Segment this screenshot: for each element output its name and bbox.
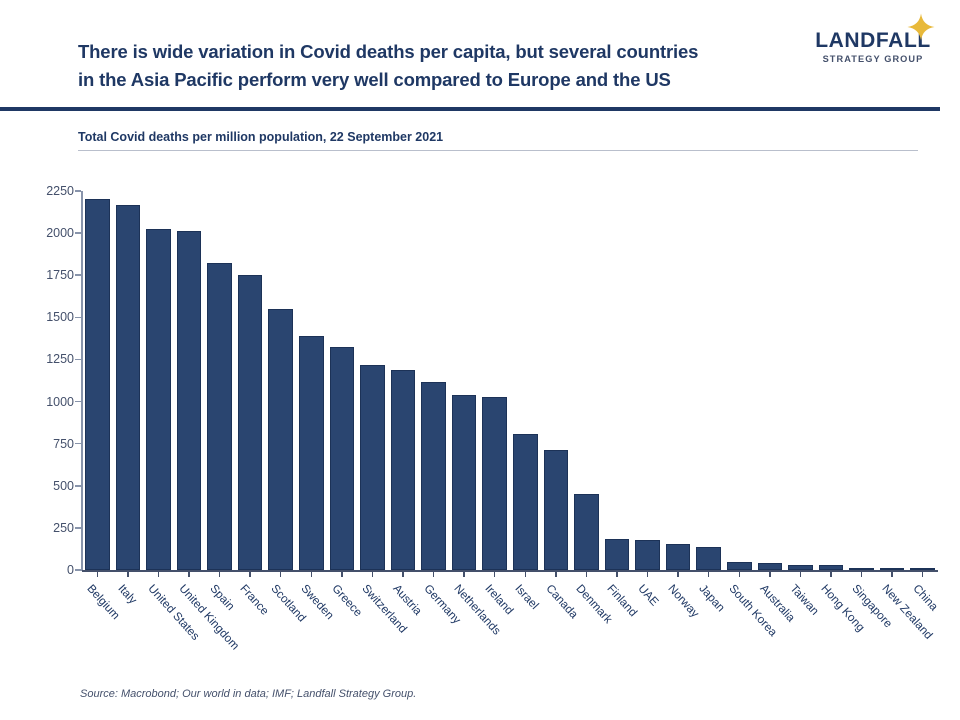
x-axis-tick-mark xyxy=(555,570,557,577)
y-axis-tick-label: 2250 xyxy=(22,184,74,198)
bar[interactable] xyxy=(544,450,568,570)
bar[interactable] xyxy=(146,229,170,570)
x-axis-tick-mark xyxy=(525,570,527,577)
x-axis-tick-mark xyxy=(158,570,160,577)
x-axis-tick-mark xyxy=(494,570,496,577)
plot-area xyxy=(82,191,938,570)
y-axis-tick-label: 0 xyxy=(22,563,74,577)
x-axis-tick-mark xyxy=(861,570,863,577)
x-axis-tick-mark xyxy=(800,570,802,577)
bar[interactable] xyxy=(177,231,201,570)
x-axis-tick-mark xyxy=(97,570,99,577)
x-axis-tick-mark xyxy=(280,570,282,577)
y-axis-tick-mark xyxy=(75,232,81,234)
y-axis-tick-mark xyxy=(75,485,81,487)
bar[interactable] xyxy=(452,395,476,570)
y-axis-tick-mark xyxy=(75,443,81,445)
x-axis-tick-mark xyxy=(708,570,710,577)
x-axis-tick-mark xyxy=(341,570,343,577)
bar[interactable] xyxy=(574,494,598,570)
x-axis-tick-mark xyxy=(127,570,129,577)
bar[interactable] xyxy=(360,365,384,570)
bar[interactable] xyxy=(268,309,292,570)
y-axis-tick-mark xyxy=(75,190,81,192)
bar[interactable] xyxy=(207,263,231,570)
y-axis-tick-label: 500 xyxy=(22,479,74,493)
bar[interactable] xyxy=(330,347,354,570)
bar[interactable] xyxy=(421,382,445,570)
x-axis-category-label: Italy xyxy=(115,582,139,607)
x-axis-tick-mark xyxy=(830,570,832,577)
x-axis-tick-mark xyxy=(769,570,771,577)
bar[interactable] xyxy=(299,336,323,570)
x-axis-tick-mark xyxy=(891,570,893,577)
y-axis-tick-mark xyxy=(75,274,81,276)
source-note: Source: Macrobond; Our world in data; IM… xyxy=(80,688,416,700)
x-axis-tick-mark xyxy=(249,570,251,577)
y-axis-tick-mark xyxy=(75,527,81,529)
bar[interactable] xyxy=(238,275,262,570)
y-axis-labels: 0250500750100012501500175020002250 xyxy=(14,0,74,720)
y-axis-tick-label: 1000 xyxy=(22,395,74,409)
x-axis-tick-mark xyxy=(463,570,465,577)
x-axis-tick-mark xyxy=(311,570,313,577)
y-axis-tick-label: 1500 xyxy=(22,310,74,324)
x-axis-category-label: France xyxy=(237,582,271,618)
x-axis-tick-mark xyxy=(372,570,374,577)
bar[interactable] xyxy=(666,544,690,570)
y-axis-tick-label: 1250 xyxy=(22,352,74,366)
x-axis-tick-mark xyxy=(616,570,618,577)
x-axis-tick-mark xyxy=(433,570,435,577)
x-axis-tick-mark xyxy=(586,570,588,577)
y-axis-tick-label: 1750 xyxy=(22,268,74,282)
bar-chart: 0250500750100012501500175020002250 Belgi… xyxy=(0,0,960,720)
bar[interactable] xyxy=(116,205,140,570)
x-axis-tick-mark xyxy=(188,570,190,577)
x-axis-category-label: Japan xyxy=(696,582,727,614)
bar[interactable] xyxy=(513,434,537,570)
x-axis-tick-mark xyxy=(402,570,404,577)
x-axis-category-label: UAE xyxy=(635,582,661,609)
x-axis-category-label: Israel xyxy=(513,582,542,612)
bar[interactable] xyxy=(696,547,720,570)
y-axis-tick-label: 250 xyxy=(22,521,74,535)
bar[interactable] xyxy=(391,370,415,570)
y-axis-tick-mark xyxy=(75,317,81,319)
bar[interactable] xyxy=(727,562,751,570)
x-axis-tick-mark xyxy=(739,570,741,577)
bar[interactable] xyxy=(482,397,506,570)
x-axis-category-label: China xyxy=(910,582,940,613)
x-axis-tick-mark xyxy=(677,570,679,577)
x-axis-tick-mark xyxy=(219,570,221,577)
x-axis-category-label: Norway xyxy=(665,582,701,620)
y-axis-tick-mark xyxy=(75,401,81,403)
x-axis-category-label: Spain xyxy=(207,582,237,613)
bar[interactable] xyxy=(605,539,629,570)
bar[interactable] xyxy=(85,199,109,570)
y-axis-tick-label: 750 xyxy=(22,437,74,451)
x-axis-tick-mark xyxy=(647,570,649,577)
bar[interactable] xyxy=(635,540,659,570)
y-axis-tick-mark xyxy=(75,569,81,571)
bar[interactable] xyxy=(758,563,782,570)
y-axis-tick-label: 2000 xyxy=(22,226,74,240)
y-axis-tick-mark xyxy=(75,359,81,361)
x-axis-line xyxy=(82,570,938,572)
x-axis-tick-mark xyxy=(922,570,924,577)
